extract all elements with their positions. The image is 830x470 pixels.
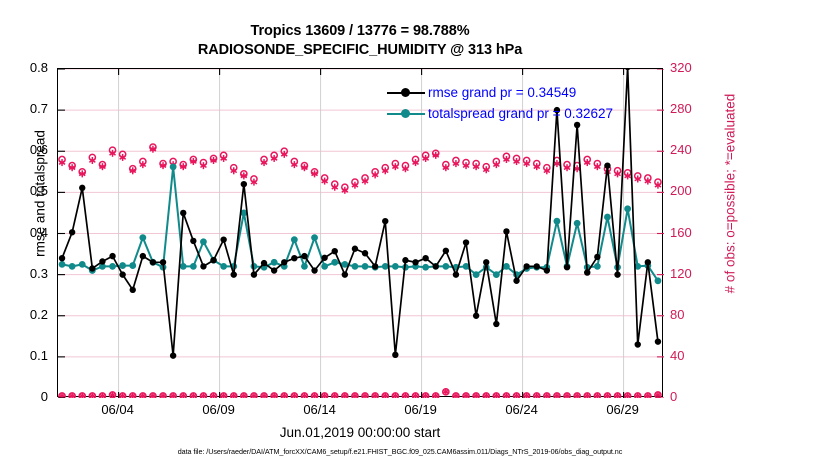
y-axis-left-title: rmse and totalspread — [33, 44, 48, 344]
y-axis-right-tick-label: 320 — [670, 60, 714, 75]
y-axis-right-tick-label: 0 — [670, 389, 714, 404]
legend-label-rmse: rmse grand pr = 0.34549 — [427, 85, 576, 100]
obs-baseline-markers — [59, 388, 661, 398]
obs-evaluated-markers — [59, 146, 661, 194]
y-axis-right-title: # of obs: o=possible; *=evaluated — [723, 24, 738, 364]
y-axis-right-tick-label: 160 — [670, 225, 714, 240]
chart-figure: Tropics 13609 / 13776 = 98.788% RADIOSON… — [0, 0, 830, 470]
chart-title-block: Tropics 13609 / 13776 = 98.788% RADIOSON… — [0, 22, 720, 60]
legend-item-rmse: rmse grand pr = 0.34549 — [385, 82, 655, 103]
x-axis-tick-label: 06/04 — [83, 402, 153, 417]
y-axis-right-tick-label: 40 — [670, 348, 714, 363]
y-axis-right-tick-label: 240 — [670, 142, 714, 157]
x-axis-tick-label: 06/24 — [487, 402, 557, 417]
x-axis-tick-label: 06/09 — [184, 402, 254, 417]
legend-item-totalspread: totalspread grand pr = 0.32627 — [385, 103, 655, 124]
chart-title-line-2: RADIOSONDE_SPECIFIC_HUMIDITY @ 313 hPa — [0, 41, 720, 60]
legend-label-totalspread: totalspread grand pr = 0.32627 — [427, 106, 613, 121]
y-axis-right-tick-label: 280 — [670, 101, 714, 116]
y-axis-right-tick-label: 120 — [670, 266, 714, 281]
y-axis-left-tick-label: 0 — [8, 389, 48, 404]
y-axis-right-tick-label: 200 — [670, 183, 714, 198]
data-file-footer: data file: /Users/raeder/DAI/ATM_forcXX/… — [0, 447, 800, 456]
chart-legend: rmse grand pr = 0.34549 totalspread gran… — [385, 82, 655, 124]
y-axis-right-tick-label: 80 — [670, 307, 714, 322]
chart-title-line-1: Tropics 13609 / 13776 = 98.788% — [0, 22, 720, 41]
x-axis-tick-label: 06/14 — [285, 402, 355, 417]
x-axis-title: Jun.01,2019 00:00:00 start — [57, 425, 663, 440]
legend-marker-totalspread-icon — [385, 107, 427, 121]
legend-marker-rmse-icon — [385, 86, 427, 100]
x-axis-tick-label: 06/29 — [588, 402, 658, 417]
y-axis-left-tick-label: 0.1 — [8, 348, 48, 363]
x-axis-tick-label: 06/19 — [386, 402, 456, 417]
